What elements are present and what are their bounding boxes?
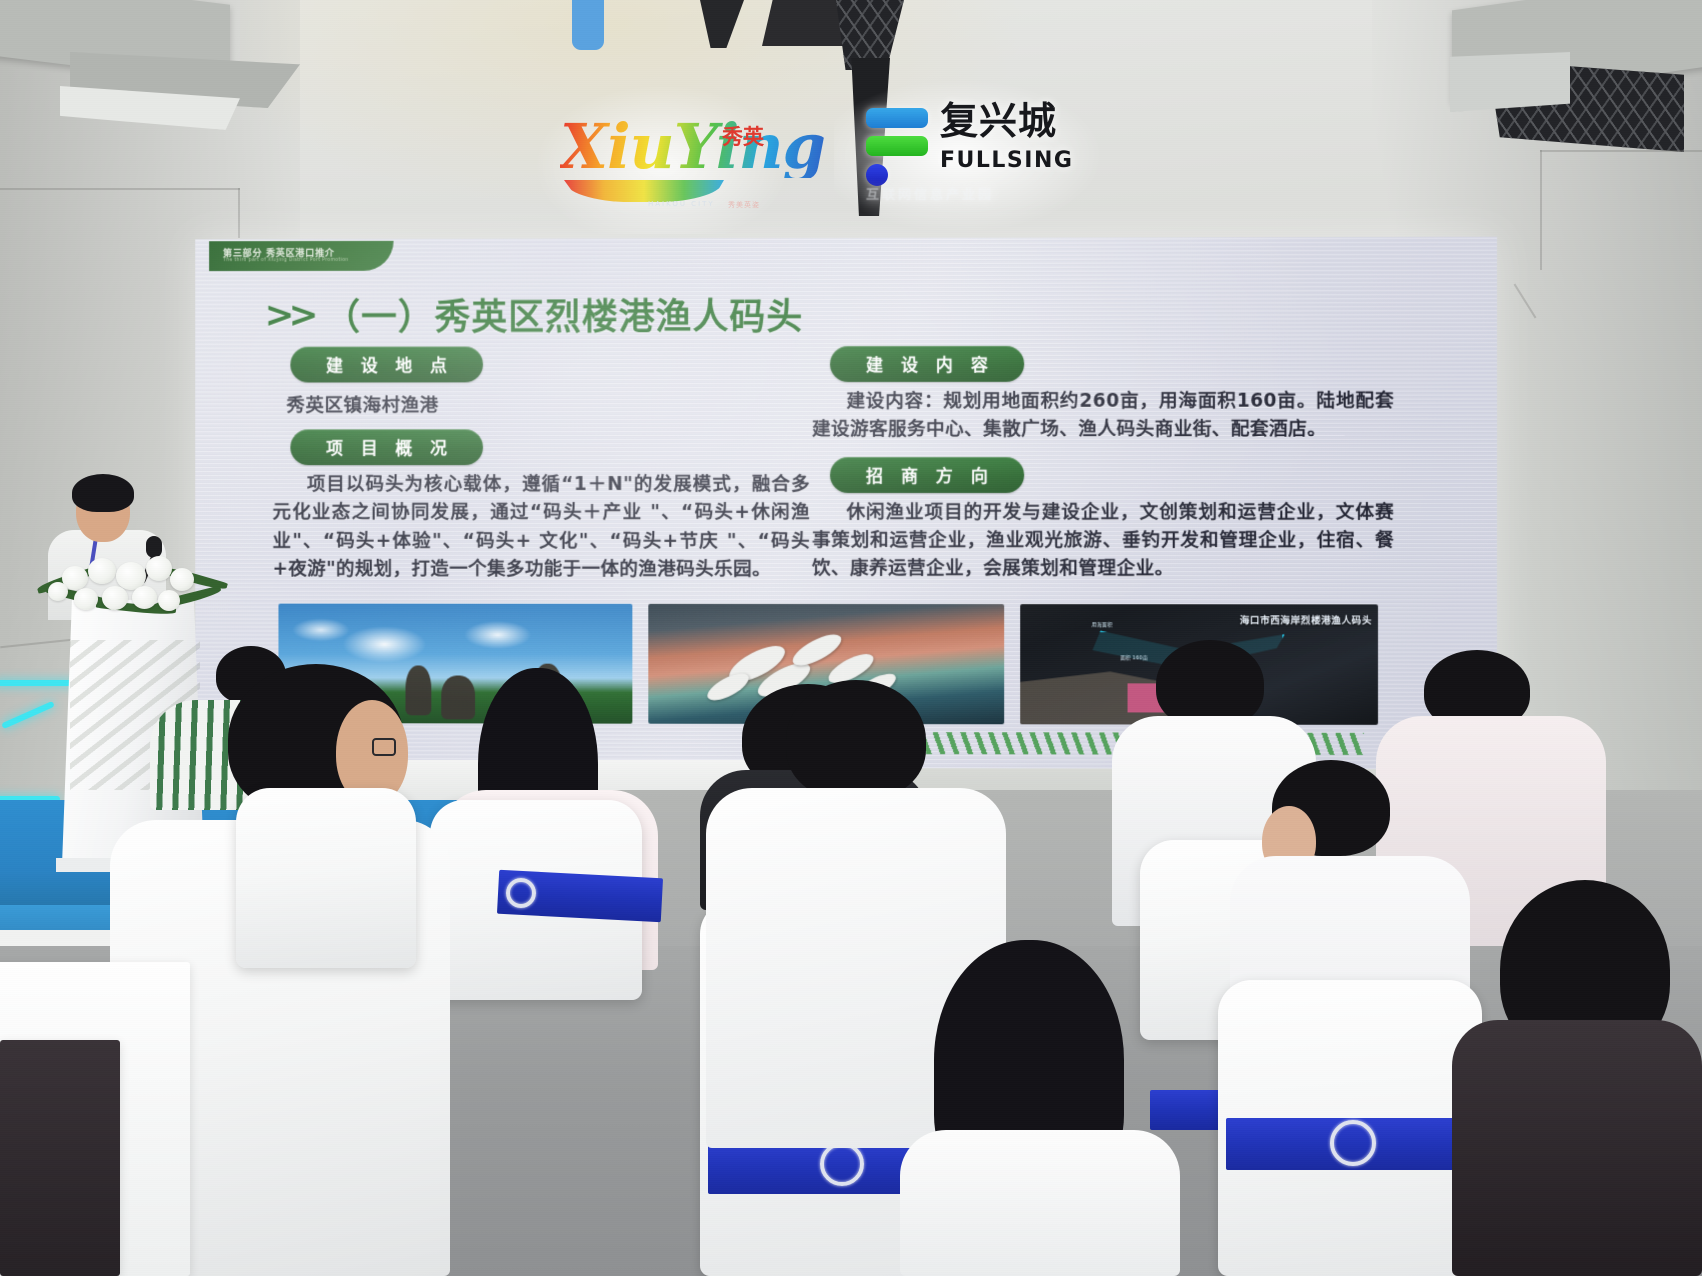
ceiling-panel-right-2 [1450,52,1570,112]
fullsing-dot-icon [866,164,888,186]
person-back-right-hair [1156,640,1264,728]
text-investment-direction-body: 休闲渔业项目的开发与建设企业，文创策划和运营企业，文体赛事策划和运营企业，渔业观… [812,501,1394,579]
presentation-room-scene: XiuYing 秀英 HAIKOU CITY 秀美英姿 复兴城 FULLSING… [0,0,1702,1276]
ceiling-blue-tab [572,0,604,50]
pill-construction-content: 建 设 内 容 [830,346,1024,382]
slide-column-left: 建 设 地 点 秀英区镇海村渔港 项 目 概 况 项目以码头为核心载体，遵循“1… [273,346,810,584]
speaker-hair [72,474,134,512]
ribbon-cn-text: 第三部分 秀英区港口推介 [223,248,394,258]
slide-title-text: （一）秀英区烈楼港渔人码头 [324,288,803,341]
chair-buckle-middle-center [506,878,536,908]
wall-seam-2 [238,188,240,238]
text-investment-direction: 休闲渔业项目的开发与建设企业，文创策划和运营企业，文体赛事策划和运营企业，渔业观… [812,498,1394,583]
site-plan-label: 海口市西海岸烈楼港渔人码头 [1240,612,1372,626]
fullsing-logo: 复兴城 FULLSING 互联网信息产业园 [860,100,1086,212]
xiuying-sub-pinyin: HAIKOU CITY [648,200,715,208]
fullsing-bar-green-icon [866,136,928,156]
site-tag-2: 面积 160亩 [1120,655,1148,662]
flower-arrangement [40,552,230,624]
bloom-7 [102,586,128,610]
fullsing-bar-blue-icon [866,108,928,128]
bloom-4 [146,556,172,581]
ribbon-en-text: The third part of Xiuying District Port … [223,258,394,263]
chair-back-left [236,788,416,968]
text-construction-content-body: 建设内容：规划用地面积约260亩，用海面积160亩。陆地配套建设游客服务中心、集… [812,391,1394,441]
xiuying-wordmark: XiuYing [560,116,825,178]
fullsing-subtitle: 互联网信息产业园 [866,184,994,203]
xiuying-sub-cn: 秀美英姿 [728,200,760,210]
site-tag-1: 用海面积 [1092,621,1113,628]
xiuying-seal-text: 秀英 [720,126,766,182]
neon-strip-1 [0,680,74,686]
bloom-6 [74,588,98,610]
bloom-10 [48,582,68,601]
pill-investment-direction: 招 商 方 向 [830,456,1024,492]
text-project-overview: 项目以码头为核心载体，遵循“1＋N"的发展模式，融合多元化业态之间协同发展，通过… [273,471,810,584]
wall-seam-5 [1540,150,1542,270]
rock-shape-1 [406,666,432,716]
slide-section-ribbon: 第三部分 秀英区港口推介 The third part of Xiuying D… [209,241,393,271]
pill-project-overview: 项 目 概 况 [290,429,482,465]
chair-buckle-right-masked [1330,1120,1376,1166]
fullsing-en-name: FULLSING [940,148,1073,173]
pill-construction-location: 建 设 地 点 [290,346,482,382]
text-project-overview-body: 项目以码头为核心载体，遵循“1＋N"的发展模式，融合多元化业态之间协同发展，通过… [273,474,810,580]
person-front-far-right-torso [1452,1020,1702,1276]
table-cloth-left-2 [0,1040,120,1276]
fullsing-cn-name: 复兴城 [940,102,1057,142]
rock-shape-2 [441,675,475,719]
person-middle-right-hair [786,680,926,800]
bloom-9 [158,590,180,611]
bloom-5 [170,568,194,591]
spacer-left-1 [273,417,810,429]
wall-seam-1 [0,188,240,190]
wall-seam-4 [1540,150,1702,152]
person-front-woman-torso [900,1130,1180,1276]
bloom-8 [132,586,157,609]
slide-title: >> （一）秀英区烈楼港渔人码头 [265,288,804,341]
bloom-2 [88,558,116,584]
person-glasses-frame-icon [372,738,396,756]
text-construction-location: 秀英区镇海村渔港 [286,390,810,417]
slide-column-right: 建 设 内 容 建设内容：规划用地面积约260亩，用海面积160亩。陆地配套建设… [812,345,1394,583]
chair-buckle-middle-right [820,1142,864,1186]
spacer-right-1 [812,444,1394,456]
chevron-right-icon: >> [265,294,313,335]
text-construction-content: 建设内容：规划用地面积约260亩，用海面积160亩。陆地配套建设游客服务中心、集… [812,388,1394,445]
xiuying-logo: XiuYing 秀英 HAIKOU CITY 秀美英姿 [552,104,772,212]
